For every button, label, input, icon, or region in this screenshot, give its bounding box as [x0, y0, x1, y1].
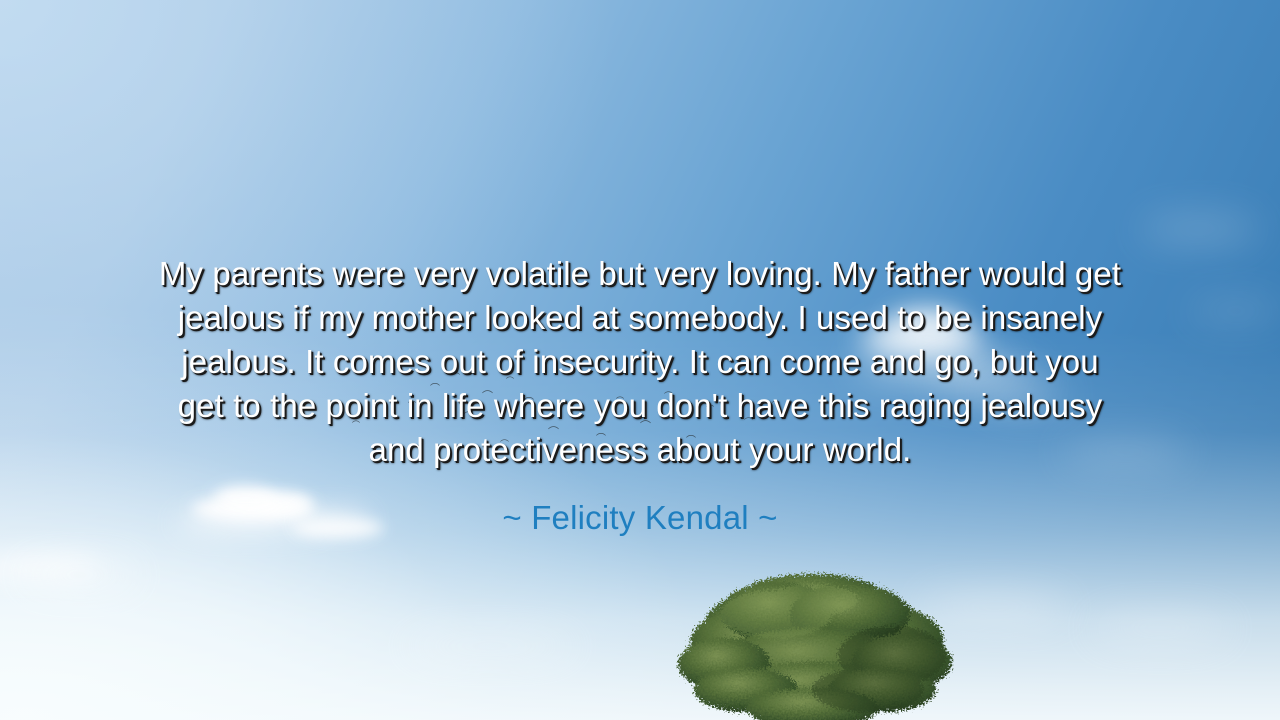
quote-block: My parents were very volatile but very l… — [0, 252, 1280, 472]
quote-attribution: ~ Felicity Kendal ~ — [0, 497, 1280, 539]
quote-text: My parents were very volatile but very l… — [56, 252, 1224, 472]
quote-image-canvas: ︵ ︵ ︵ ︵ ︵ ︵ ︵ ︵ ︵ ︵ ︵ ︵ ︵ ︵ ︵ ︵ ︵ ︵ ︵ ︵ — [0, 0, 1280, 720]
